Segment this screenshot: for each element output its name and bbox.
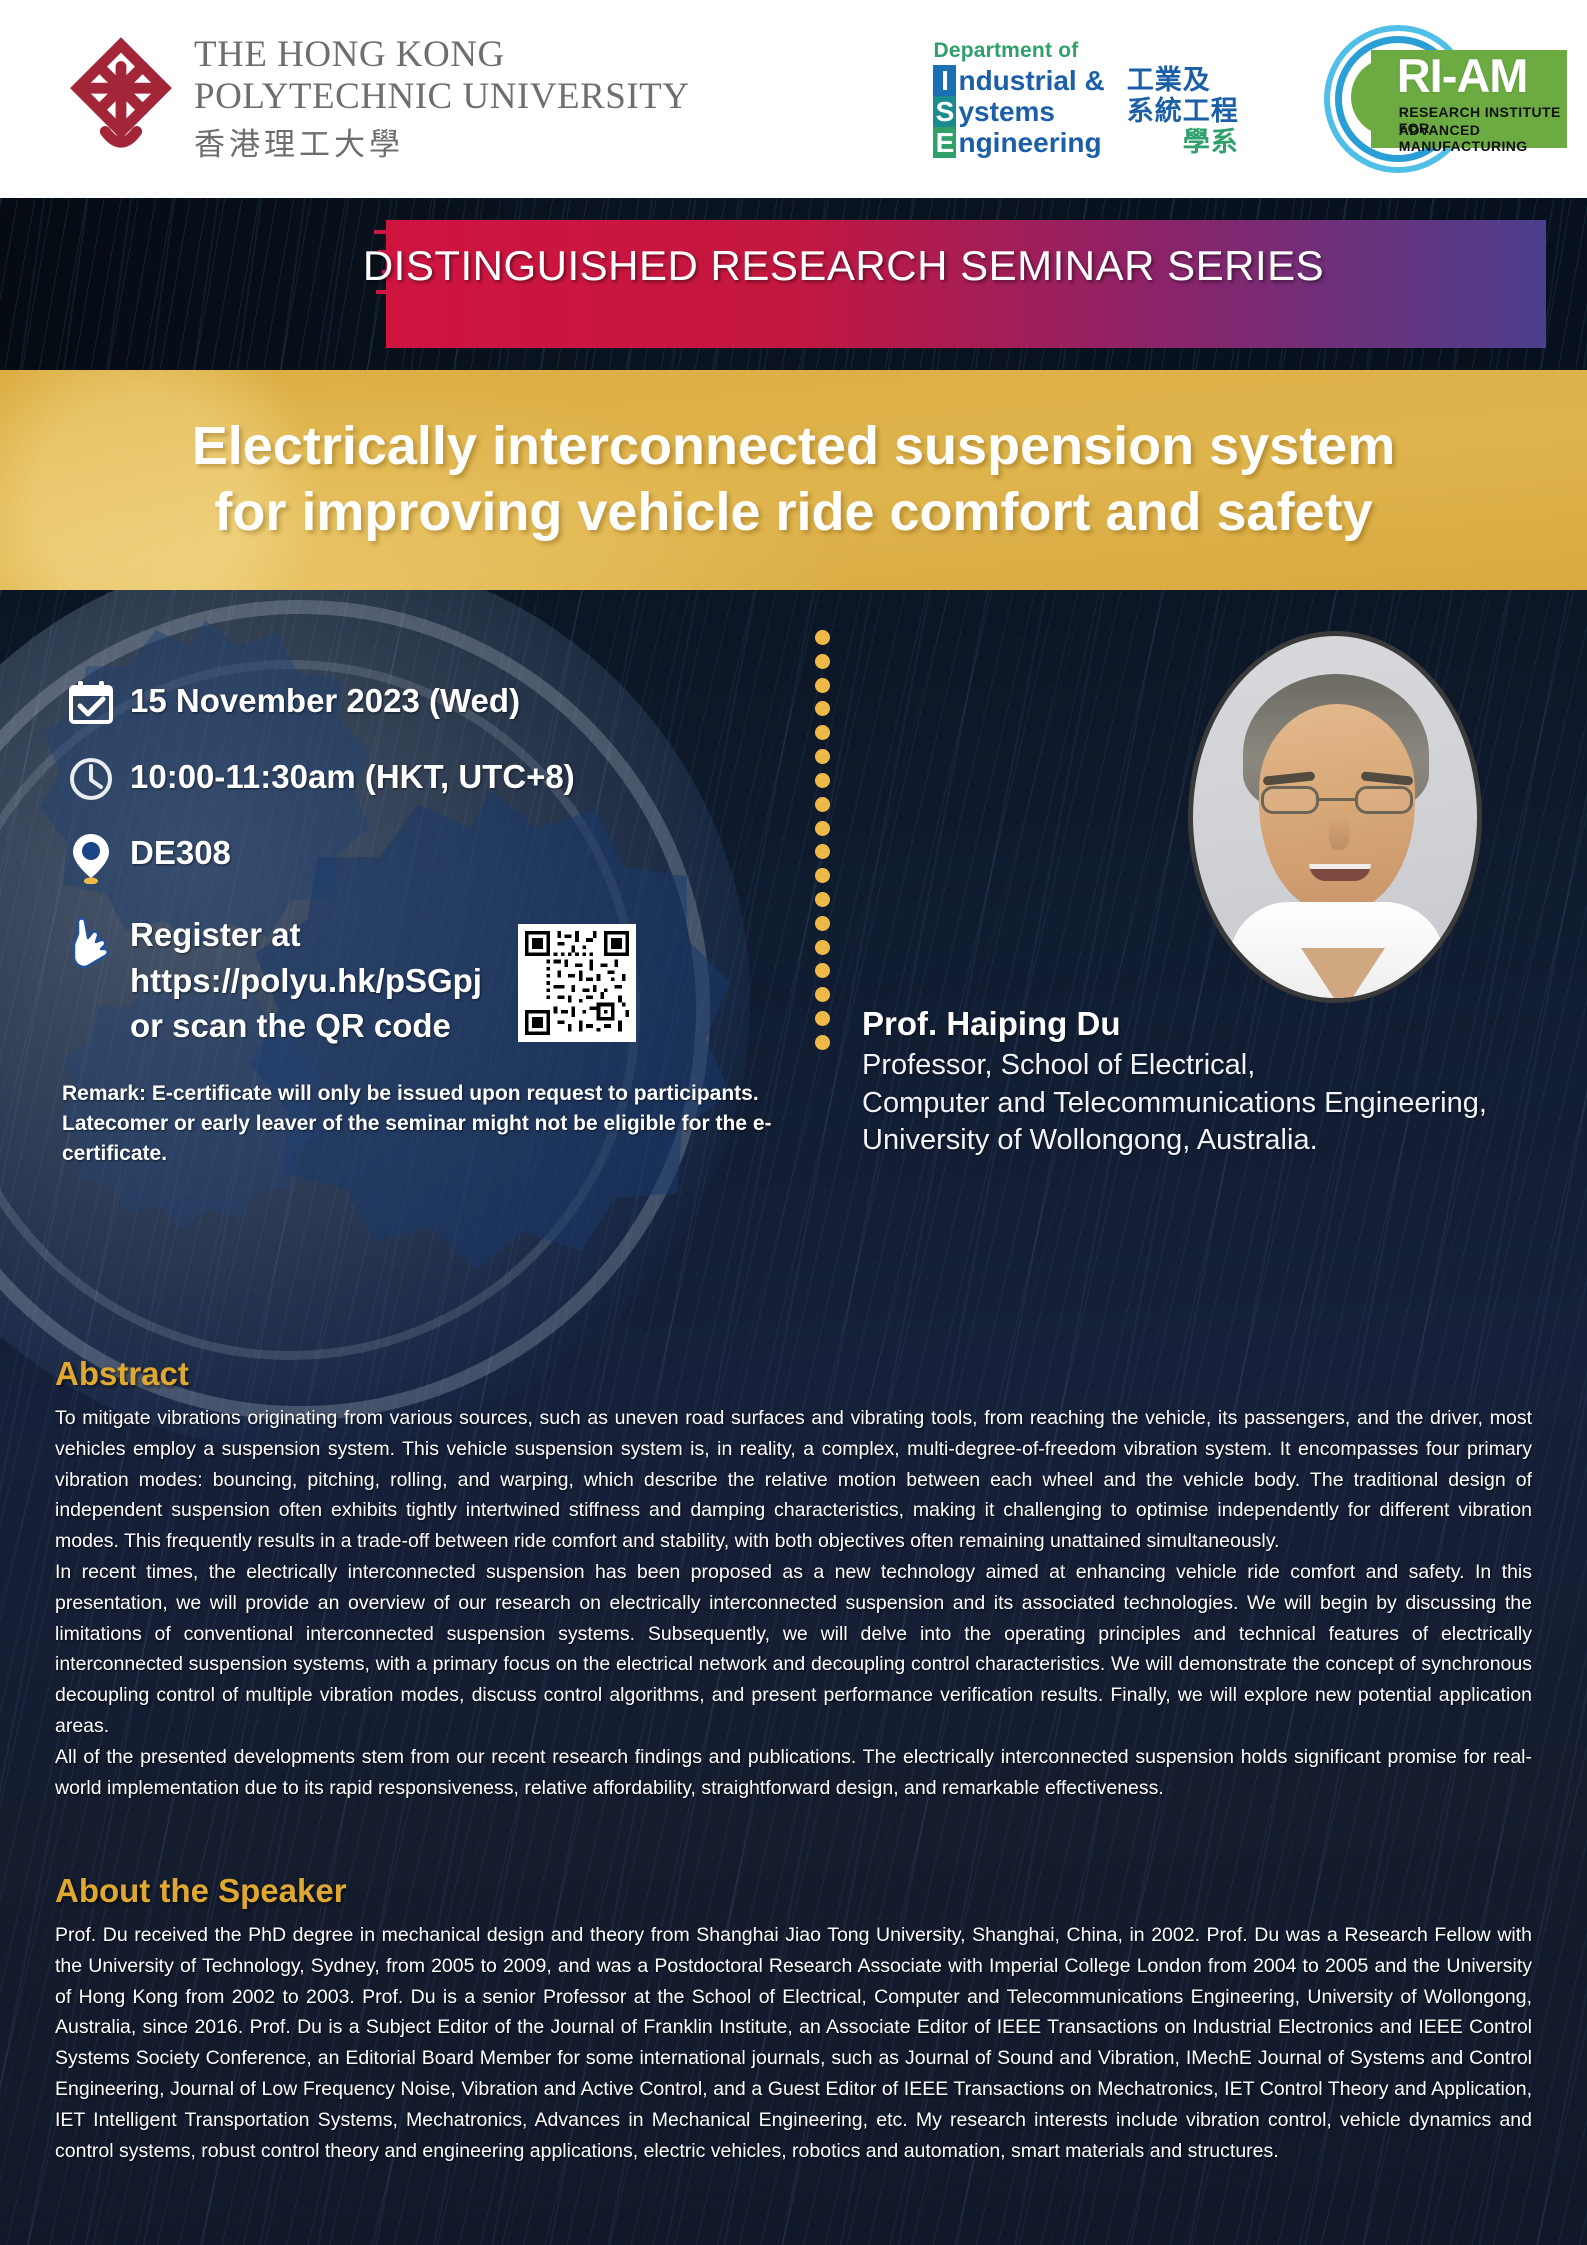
event-venue-row: DE308 (62, 830, 782, 884)
event-date-row: 15 November 2023 (Wed) (62, 678, 782, 726)
event-date-text: 15 November 2023 (Wed) (120, 678, 520, 724)
pointing-hand-icon (62, 912, 120, 972)
speaker-affiliation-line1: Professor, School of Electrical, (862, 1047, 1582, 1085)
register-url[interactable]: https://polyu.hk/pSGpj (130, 958, 482, 1004)
riam-logo: RI-AM RESEARCH INSTITUTE FOR ADVANCED MA… (1335, 32, 1571, 166)
clock-icon (62, 754, 120, 802)
riam-subtitle-line2: ADVANCED MANUFACTURING (1399, 122, 1571, 154)
polyu-logo: THE HONG KONG POLYTECHNIC UNIVERSITY 香港理… (62, 34, 689, 164)
event-details: 15 November 2023 (Wed) 10:00-11:30am (HK… (62, 678, 782, 1170)
ise-words-english: ndustrial & ystems ngineering (958, 65, 1104, 158)
seminar-title-line1: Electrically interconnected suspension s… (192, 414, 1395, 480)
speaker-details: Prof. Haiping Du Professor, School of El… (862, 1005, 1582, 1160)
speaker-affiliation-line3: University of Wollongong, Australia. (862, 1122, 1582, 1160)
calendar-check-icon (62, 678, 120, 726)
polyu-name-line1: THE HONG KONG (194, 34, 689, 75)
event-time-text: 10:00-11:30am (HKT, UTC+8) (120, 754, 575, 800)
ise-initials-bar: I S E (933, 65, 956, 158)
ise-word-systems: ystems (958, 96, 1104, 127)
ise-department-logo: Department of I S E ndustrial & ystems n… (933, 40, 1238, 158)
polyu-name-chinese: 香港理工大學 (194, 119, 689, 164)
portrait-collar (1301, 948, 1385, 1003)
abstract-paragraph-2: In recent times, the electrically interc… (55, 1557, 1532, 1742)
seminar-title-band: Electrically interconnected suspension s… (0, 370, 1587, 590)
ise-chinese-1: 工業及 (1127, 65, 1239, 96)
speaker-name: Prof. Haiping Du (862, 1005, 1582, 1043)
abstract-paragraph-3: All of the presented developments stem f… (55, 1742, 1532, 1804)
about-speaker-body: Prof. Du received the PhD degree in mech… (55, 1920, 1532, 2166)
ise-letter-e: E (933, 127, 956, 158)
avatar (1188, 631, 1482, 1003)
seminar-title-line2: for improving vehicle ride comfort and s… (214, 480, 1372, 546)
ise-letter-s: S (933, 96, 956, 127)
ise-word-engineering: ngineering (958, 127, 1104, 158)
ise-letter-i: I (933, 65, 956, 96)
location-pin-icon (62, 830, 120, 884)
header-logo-bar: THE HONG KONG POLYTECHNIC UNIVERSITY 香港理… (0, 0, 1587, 198)
speaker-affiliation-line2: Computer and Telecommunications Engineer… (862, 1085, 1582, 1123)
portrait-glasses (1261, 786, 1413, 816)
about-speaker-section: About the Speaker Prof. Du received the … (55, 1872, 1532, 2166)
abstract-section: Abstract To mitigate vibrations originat… (55, 1355, 1532, 1803)
seminar-poster: THE HONG KONG POLYTECHNIC UNIVERSITY 香港理… (0, 0, 1587, 2245)
polyu-knot-icon (62, 37, 180, 161)
ise-chinese-2: 系統工程 (1127, 96, 1239, 127)
abstract-body: To mitigate vibrations originating from … (55, 1403, 1532, 1803)
register-line-1: Register at (130, 912, 482, 958)
event-register-row[interactable]: Register at https://polyu.hk/pSGpj or sc… (62, 912, 782, 1049)
register-line-3: or scan the QR code (130, 1003, 482, 1049)
event-time-row: 10:00-11:30am (HKT, UTC+8) (62, 754, 782, 802)
abstract-paragraph-1: To mitigate vibrations originating from … (55, 1403, 1532, 1557)
about-speaker-paragraph-1: Prof. Du received the PhD degree in mech… (55, 1920, 1532, 2166)
event-venue-text: DE308 (120, 830, 231, 876)
ise-words-chinese: 工業及 系統工程 學系 (1127, 65, 1239, 158)
event-register-text[interactable]: Register at https://polyu.hk/pSGpj or sc… (120, 912, 482, 1049)
series-banner-title: DISTINGUISHED RESEARCH SEMINAR SERIES (0, 242, 1587, 290)
ise-dept-prefix: Department of (933, 40, 1238, 61)
remark-text: Remark: E-certificate will only be issue… (62, 1079, 780, 1170)
series-banner: DISTINGUISHED RESEARCH SEMINAR SERIES (0, 198, 1587, 370)
dotted-divider (812, 630, 832, 1050)
portrait-nose (1329, 816, 1349, 850)
riam-title: RI-AM (1397, 52, 1528, 99)
about-speaker-heading: About the Speaker (55, 1872, 1532, 1910)
speaker-portrait (1188, 631, 1482, 1003)
ise-word-industrial: ndustrial & (958, 65, 1104, 96)
polyu-name-line2: POLYTECHNIC UNIVERSITY (194, 76, 689, 117)
abstract-heading: Abstract (55, 1355, 1532, 1393)
ise-chinese-3: 學系 (1127, 127, 1239, 158)
qr-code-icon[interactable] (518, 924, 636, 1042)
portrait-mouth (1309, 864, 1371, 881)
